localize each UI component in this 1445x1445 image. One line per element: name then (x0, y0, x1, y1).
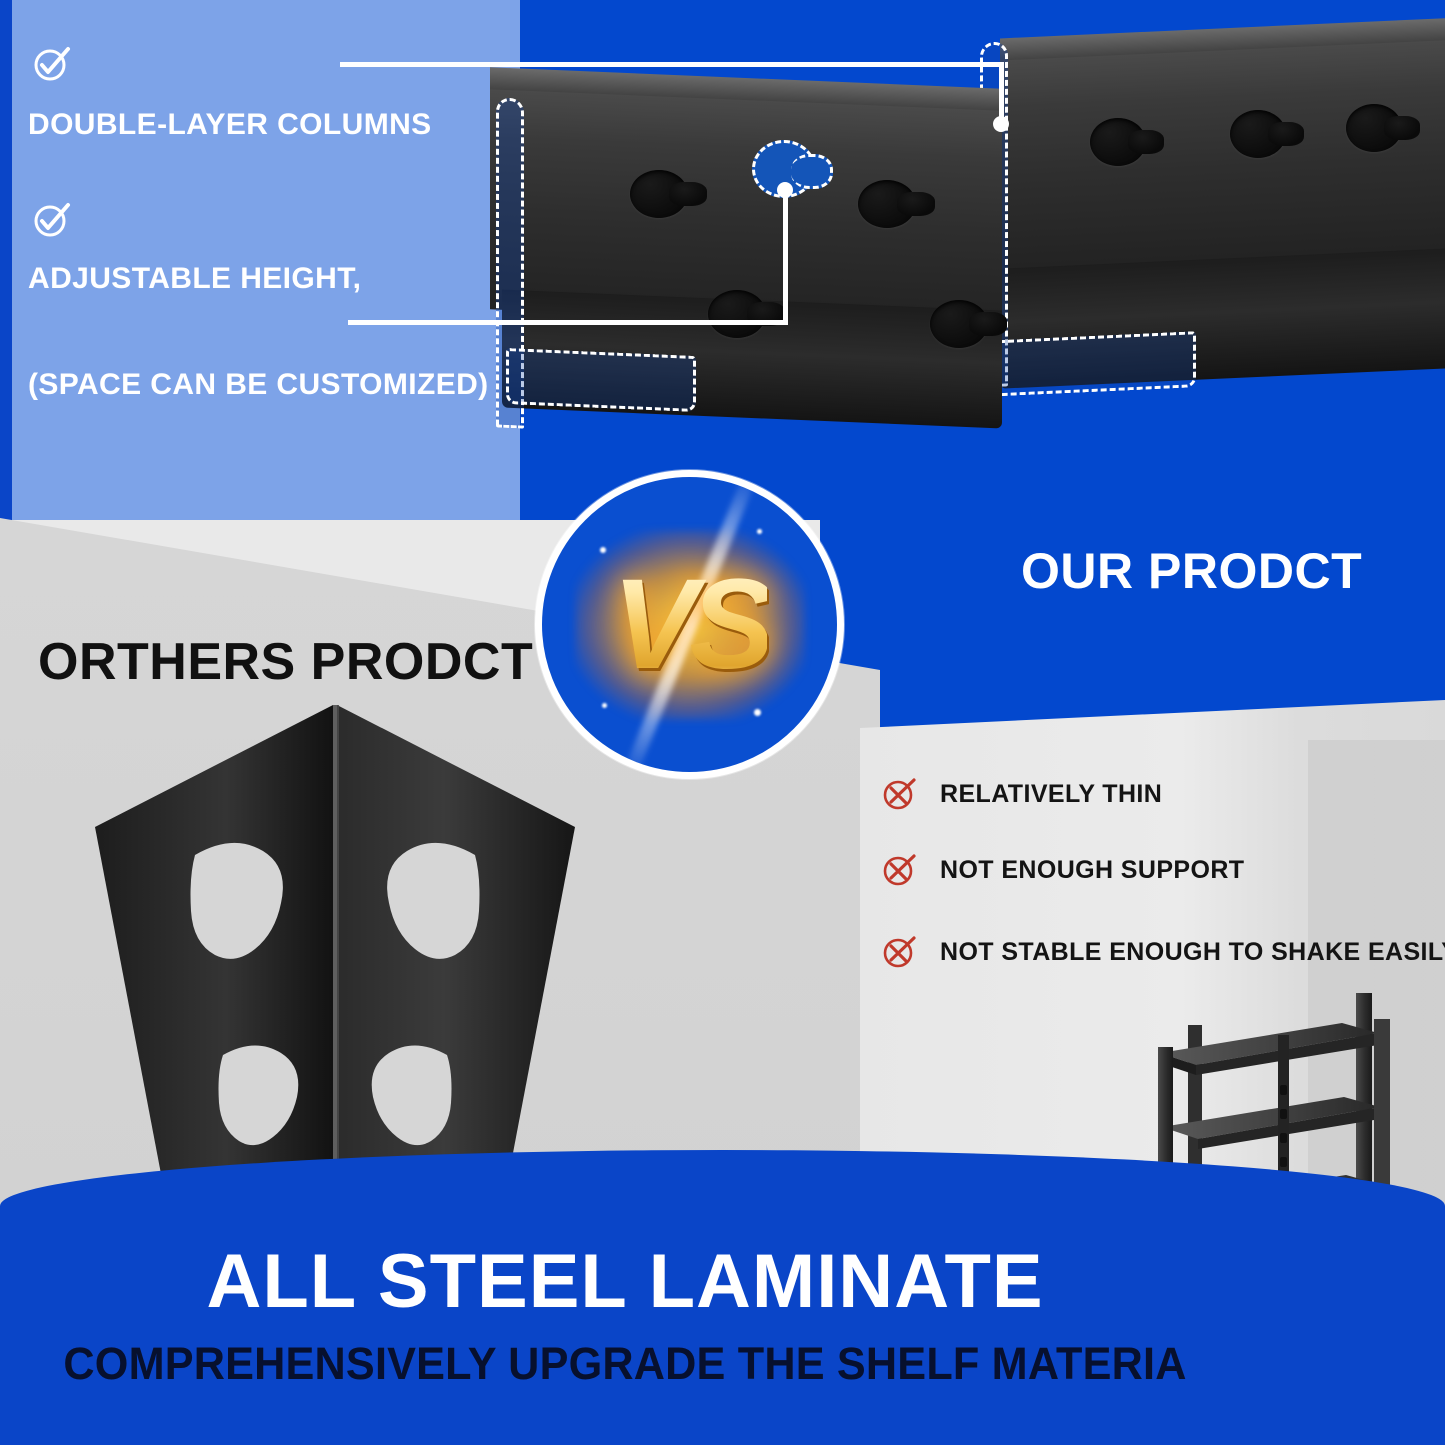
steel-beam-photo (480, 0, 1445, 510)
feature-label-2: ADJUSTABLE HEIGHT, (28, 262, 361, 296)
callout-dot-2 (777, 182, 793, 198)
callout-leader-line-2 (348, 320, 788, 325)
corner-bracket-photo (75, 695, 595, 1215)
infographic-canvas: DOUBLE-LAYER COLUMNS ADJUSTABLE HEIGHT, … (0, 0, 1445, 1445)
callout-leader-line-2-vertical (783, 190, 788, 325)
feature-label-1: DOUBLE-LAYER COLUMNS (28, 108, 432, 142)
others-product-heading: ORTHERS PRODCT (38, 632, 533, 692)
drawback-label: NOT ENOUGH SUPPORT (940, 856, 1244, 885)
drawback-row-2: NOT ENOUGH SUPPORT (882, 852, 1244, 888)
drawback-label: NOT STABLE ENOUGH TO SHAKE EASILY (940, 938, 1445, 967)
our-product-heading: OUR PRODCT (1021, 542, 1362, 600)
x-circle-icon (882, 776, 918, 812)
drawback-label: RELATIVELY THIN (940, 780, 1162, 809)
left-edge-accent-strip (0, 0, 12, 528)
feature-label-3: (SPACE CAN BE CUSTOMIZED) (28, 368, 489, 402)
callout-dot-1 (993, 116, 1009, 132)
check-circle-icon (32, 200, 72, 240)
feature-item-1 (32, 44, 72, 84)
drawback-row-1: RELATIVELY THIN (882, 776, 1162, 812)
vs-label: VS (612, 551, 767, 698)
feature-item-2 (32, 200, 72, 240)
x-circle-icon (882, 852, 918, 888)
vs-badge: VS (535, 470, 844, 779)
drawback-row-3: NOT STABLE ENOUGH TO SHAKE EASILY (882, 934, 1445, 970)
callout-leader-line-1 (340, 62, 1004, 67)
top-background-light-blue (12, 0, 520, 520)
callout-leader-line-1-vertical (999, 62, 1004, 122)
banner-title: ALL STEEL LAMINATE (0, 1238, 1250, 1325)
banner-subtitle: COMPREHENSIVELY UPGRADE THE SHELF MATERI… (25, 1338, 1225, 1390)
x-circle-icon (882, 934, 918, 970)
check-circle-icon (32, 44, 72, 84)
